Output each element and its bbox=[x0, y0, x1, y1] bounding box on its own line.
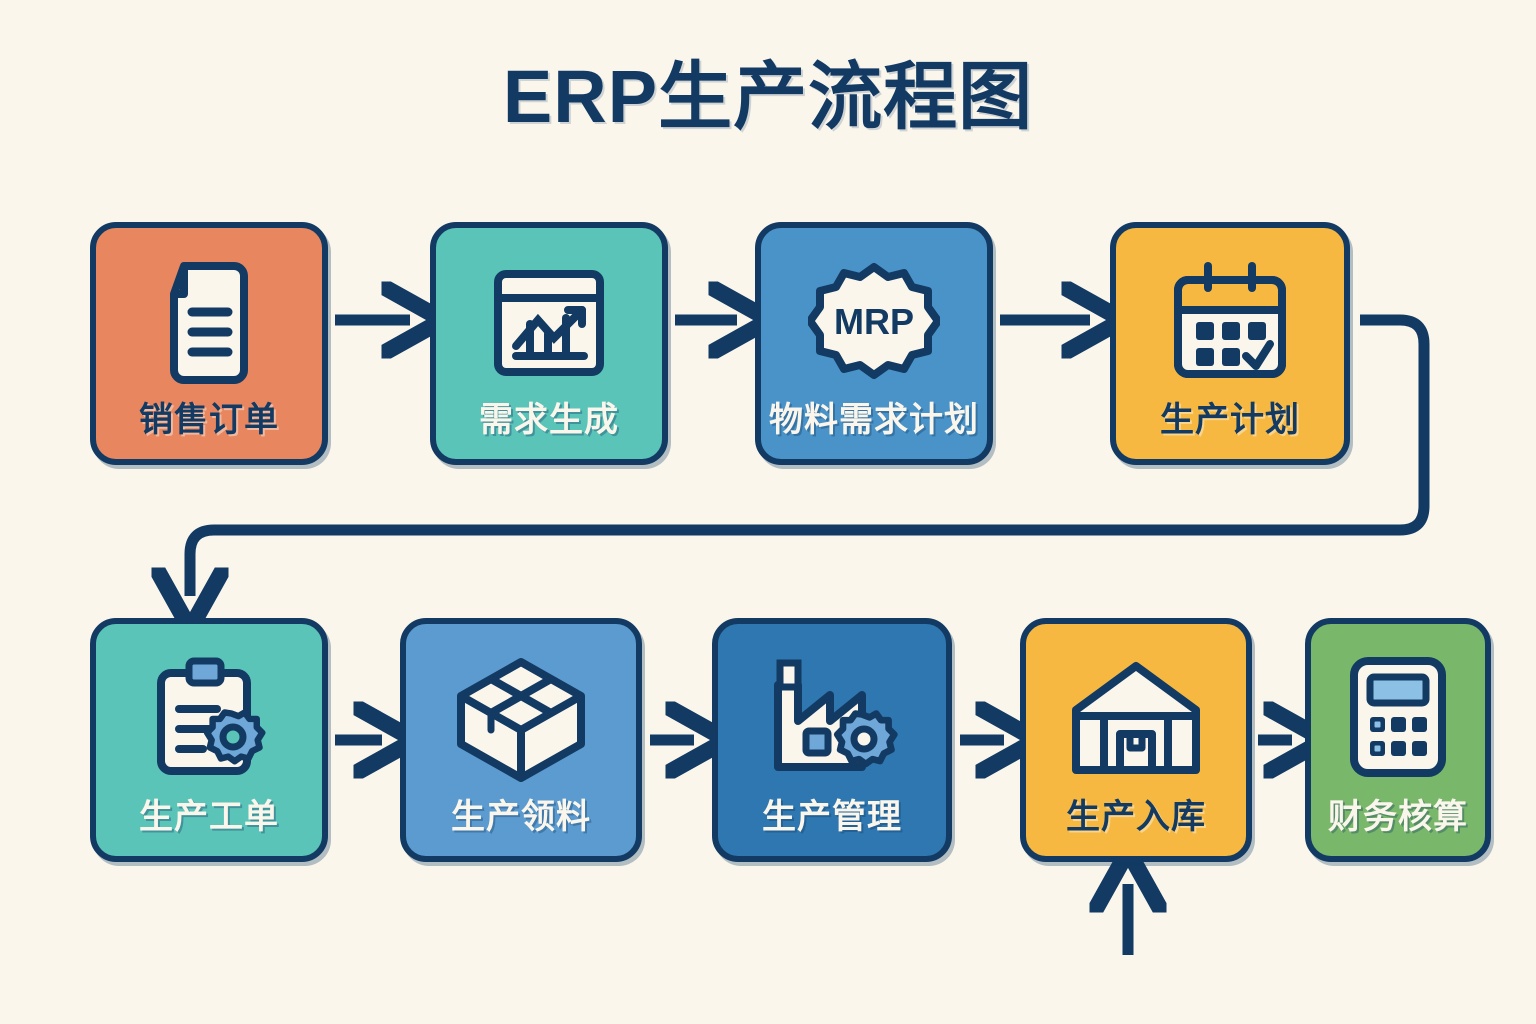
calculator-icon bbox=[1311, 624, 1485, 800]
connector-layer bbox=[0, 0, 1536, 1024]
node-label: 生产工单 bbox=[96, 800, 322, 856]
node-production-management[interactable]: 生产管理 bbox=[712, 618, 952, 862]
calendar-check-icon bbox=[1116, 228, 1344, 403]
diagram-canvas: ERP生产流程图 bbox=[0, 0, 1536, 1024]
node-label: 物料需求计划 bbox=[761, 403, 987, 459]
node-label: 财务核算 bbox=[1311, 800, 1485, 856]
mrp-gear-icon: MRP bbox=[761, 228, 987, 403]
page-title: ERP生产流程图 bbox=[0, 58, 1536, 136]
node-material-requirements-planning[interactable]: MRP 物料需求计划 bbox=[755, 222, 993, 465]
node-financial-accounting[interactable]: 财务核算 bbox=[1305, 618, 1491, 862]
clipboard-gear-icon bbox=[96, 624, 322, 800]
node-label: 销售订单 bbox=[96, 403, 322, 459]
node-label: 生产领料 bbox=[406, 800, 636, 856]
node-production-work-order[interactable]: 生产工单 bbox=[90, 618, 328, 862]
node-label: 生产计划 bbox=[1116, 403, 1344, 459]
node-demand-generation[interactable]: 需求生成 bbox=[430, 222, 668, 465]
node-label: 需求生成 bbox=[436, 403, 662, 459]
growth-chart-icon bbox=[436, 228, 662, 403]
node-label: 生产管理 bbox=[718, 800, 946, 856]
node-production-warehousing[interactable]: 生产入库 bbox=[1020, 618, 1252, 862]
node-material-picking[interactable]: 生产领料 bbox=[400, 618, 642, 862]
document-icon bbox=[96, 228, 322, 403]
node-sales-order[interactable]: 销售订单 bbox=[90, 222, 328, 465]
warehouse-icon bbox=[1026, 624, 1246, 800]
node-production-plan[interactable]: 生产计划 bbox=[1110, 222, 1350, 465]
factory-gear-icon bbox=[718, 624, 946, 800]
box-icon bbox=[406, 624, 636, 800]
node-label: 生产入库 bbox=[1026, 800, 1246, 856]
mrp-icon-text: MRP bbox=[834, 301, 914, 342]
